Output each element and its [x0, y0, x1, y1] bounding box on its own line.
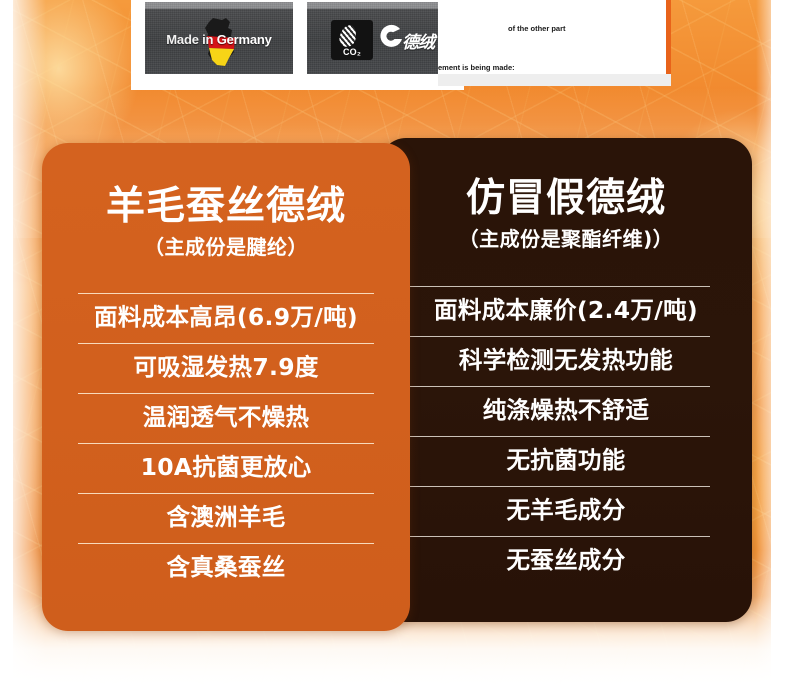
table-row: 10A抗菌更放心 — [42, 443, 410, 493]
document-line-1: of the other part — [508, 24, 566, 33]
co2-label: CO₂ — [331, 47, 373, 57]
row-label: 可吸湿发热7.9度 — [133, 356, 318, 380]
row-label: 无羊毛成分 — [507, 499, 626, 523]
germany-text: Germany — [217, 32, 272, 47]
row-label: 含真桑蚕丝 — [167, 556, 286, 580]
comparison-panel-genuine: 羊毛蚕丝德绒 （主成份是腱纶） 面料成本高昂(6.9万/吨) 可吸湿发热7.9度… — [42, 143, 410, 631]
fake-column-rows: 面料成本廉价(2.4万/吨) 科学检测无发热功能 纯涤燥热不舒适 无抗菌功能 无… — [380, 286, 752, 586]
comparison-panel-fake: 仿冒假德绒 （主成份是聚酯纤维)） 面料成本廉价(2.4万/吨) 科学检测无发热… — [380, 138, 752, 622]
table-row: 科学检测无发热功能 — [380, 336, 752, 386]
table-row: 无羊毛成分 — [380, 486, 752, 536]
row-label: 科学检测无发热功能 — [459, 349, 673, 373]
row-divider — [78, 493, 374, 494]
table-row: 温润透气不燥热 — [42, 393, 410, 443]
row-label: 含澳洲羊毛 — [167, 506, 286, 530]
row-label: 10A抗菌更放心 — [141, 456, 312, 480]
genuine-column-header: 羊毛蚕丝德绒 （主成份是腱纶） — [42, 187, 410, 257]
genuine-column-rows: 面料成本高昂(6.9万/吨) 可吸湿发热7.9度 温润透气不燥热 10A抗菌更放… — [42, 293, 410, 593]
row-divider — [380, 286, 710, 287]
row-divider — [380, 386, 710, 387]
row-divider — [78, 343, 374, 344]
table-row: 面料成本廉价(2.4万/吨) — [380, 286, 752, 336]
genuine-column-title: 羊毛蚕丝德绒 — [42, 187, 410, 226]
co2-grain-icon — [338, 24, 358, 49]
row-label: 无蚕丝成分 — [507, 549, 626, 573]
certification-strip: Made in Germany CO₂ 德绒 ® — [131, 0, 464, 90]
derong-co2-badge: CO₂ 德绒 ® — [307, 2, 455, 74]
table-row: 面料成本高昂(6.9万/吨) — [42, 293, 410, 343]
row-label: 面料成本高昂(6.9万/吨) — [94, 306, 358, 330]
document-gray-band — [438, 74, 671, 86]
row-divider — [78, 543, 374, 544]
row-divider — [78, 293, 374, 294]
row-divider — [380, 536, 710, 537]
row-divider — [380, 436, 710, 437]
row-divider — [380, 486, 710, 487]
co2-icon: CO₂ — [331, 20, 373, 60]
made-in-text: Made in — [166, 32, 216, 47]
fake-column-subtitle: （主成份是聚酯纤维)） — [380, 229, 752, 249]
product-comparison-page: Made in Germany CO₂ 德绒 ® of the other pa… — [0, 0, 790, 688]
row-label: 无抗菌功能 — [507, 449, 626, 473]
row-label: 温润透气不燥热 — [143, 406, 310, 430]
contract-document-image: of the other part ement is being made: — [438, 0, 671, 86]
table-row: 无抗菌功能 — [380, 436, 752, 486]
table-row: 纯涤燥热不舒适 — [380, 386, 752, 436]
row-divider — [78, 443, 374, 444]
fake-column-header: 仿冒假德绒 （主成份是聚酯纤维)） — [380, 179, 752, 249]
document-line-2: ement is being made: — [438, 63, 515, 72]
table-row: 无蚕丝成分 — [380, 536, 752, 586]
row-divider — [380, 336, 710, 337]
genuine-column-subtitle: （主成份是腱纶） — [42, 237, 410, 257]
table-row: 可吸湿发热7.9度 — [42, 343, 410, 393]
row-label: 面料成本廉价(2.4万/吨) — [434, 299, 698, 323]
made-in-germany-badge: Made in Germany — [145, 2, 293, 74]
row-divider — [78, 393, 374, 394]
fake-column-title: 仿冒假德绒 — [380, 179, 752, 218]
table-row: 含澳洲羊毛 — [42, 493, 410, 543]
made-in-germany-label: Made in Germany — [145, 32, 293, 47]
row-label: 纯涤燥热不舒适 — [483, 399, 650, 423]
table-row: 含真桑蚕丝 — [42, 543, 410, 593]
derong-brand-name: 德绒 — [402, 28, 434, 53]
